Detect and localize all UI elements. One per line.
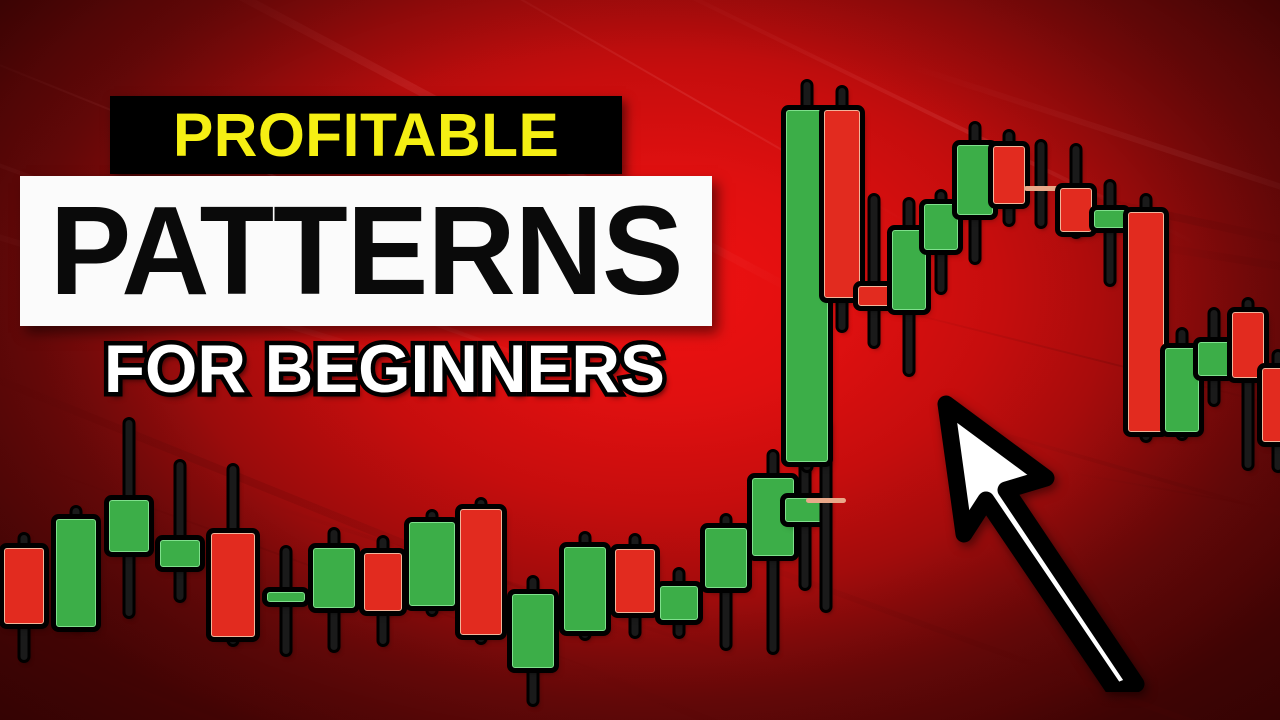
candlestick — [924, 192, 958, 292]
candle-body-doji — [806, 498, 846, 503]
candlestick — [409, 512, 455, 614]
subline-text: FOR BEGINNERS — [103, 335, 664, 403]
candlestick — [564, 534, 606, 638]
candle-body-down — [364, 553, 402, 611]
candle-body-up — [109, 500, 149, 552]
candle-body-down — [824, 110, 860, 298]
candlestick — [460, 500, 502, 642]
candlestick — [1232, 300, 1264, 468]
candle-body-up — [660, 586, 698, 620]
candle-body-down — [615, 549, 655, 613]
candle-wick — [1038, 142, 1045, 226]
candle-body-up — [924, 204, 958, 250]
candlestick — [1024, 142, 1058, 226]
candle-body-up — [512, 594, 554, 668]
candlestick — [993, 132, 1025, 224]
headline-text: PATTERNS — [50, 188, 683, 314]
candle-body-down — [858, 286, 890, 306]
candlestick — [512, 578, 554, 704]
candlestick — [211, 466, 255, 644]
candlestick — [957, 124, 993, 262]
subline-wrap: FOR BEGINNERS — [54, 332, 714, 406]
candle-body-up — [957, 145, 993, 215]
eyebrow-text: PROFITABLE — [173, 105, 559, 166]
mouse-pointer-arrow-icon — [920, 392, 1160, 692]
candlestick — [786, 82, 828, 470]
candlestick — [1060, 146, 1092, 236]
candle-body-up — [56, 519, 96, 627]
candle-body-up — [313, 548, 355, 608]
candle-body-down — [1232, 312, 1264, 378]
candle-body-down — [4, 548, 44, 624]
candle-body-up — [160, 540, 200, 567]
candlestick — [160, 462, 200, 600]
candlestick — [824, 88, 860, 330]
candle-body-down — [1262, 368, 1280, 442]
candle-body-down — [211, 533, 255, 637]
candlestick — [892, 200, 926, 374]
candle-body-up — [1198, 342, 1230, 376]
candlestick — [267, 548, 305, 654]
candle-body-up — [409, 522, 455, 606]
candle-wick — [1107, 182, 1114, 284]
candle-body-up — [705, 528, 747, 588]
candle-body-down — [460, 509, 502, 635]
candlestick — [364, 538, 402, 644]
candlestick — [1094, 182, 1126, 284]
candle-body-doji — [1024, 186, 1058, 191]
candlestick — [1165, 330, 1199, 438]
thumbnail-canvas: PROFITABLE PATTERNS FOR BEGINNERS — [0, 0, 1280, 720]
candle-body-up — [1094, 210, 1126, 228]
candlestick — [1262, 352, 1280, 470]
candle-body-up — [267, 592, 305, 602]
candlestick — [705, 516, 747, 648]
title-block: PROFITABLE PATTERNS FOR BEGINNERS — [0, 0, 760, 420]
candlestick — [4, 535, 44, 660]
candlestick — [109, 420, 149, 616]
candlestick — [858, 196, 890, 346]
candlestick — [56, 508, 96, 628]
candle-body-up — [786, 110, 828, 462]
headline-band: PATTERNS — [20, 176, 712, 326]
candlestick — [313, 530, 355, 650]
candle-body-up — [1165, 348, 1199, 432]
candlestick — [660, 570, 698, 636]
eyebrow-band: PROFITABLE — [110, 96, 622, 174]
candle-body-down — [993, 146, 1025, 204]
candle-body-down — [1060, 188, 1092, 232]
candlestick — [1198, 310, 1230, 404]
candle-body-up — [892, 230, 926, 310]
candle-body-up — [564, 547, 606, 631]
candle-wick — [871, 196, 878, 346]
candle-wick — [177, 462, 184, 600]
candlestick — [615, 536, 655, 636]
